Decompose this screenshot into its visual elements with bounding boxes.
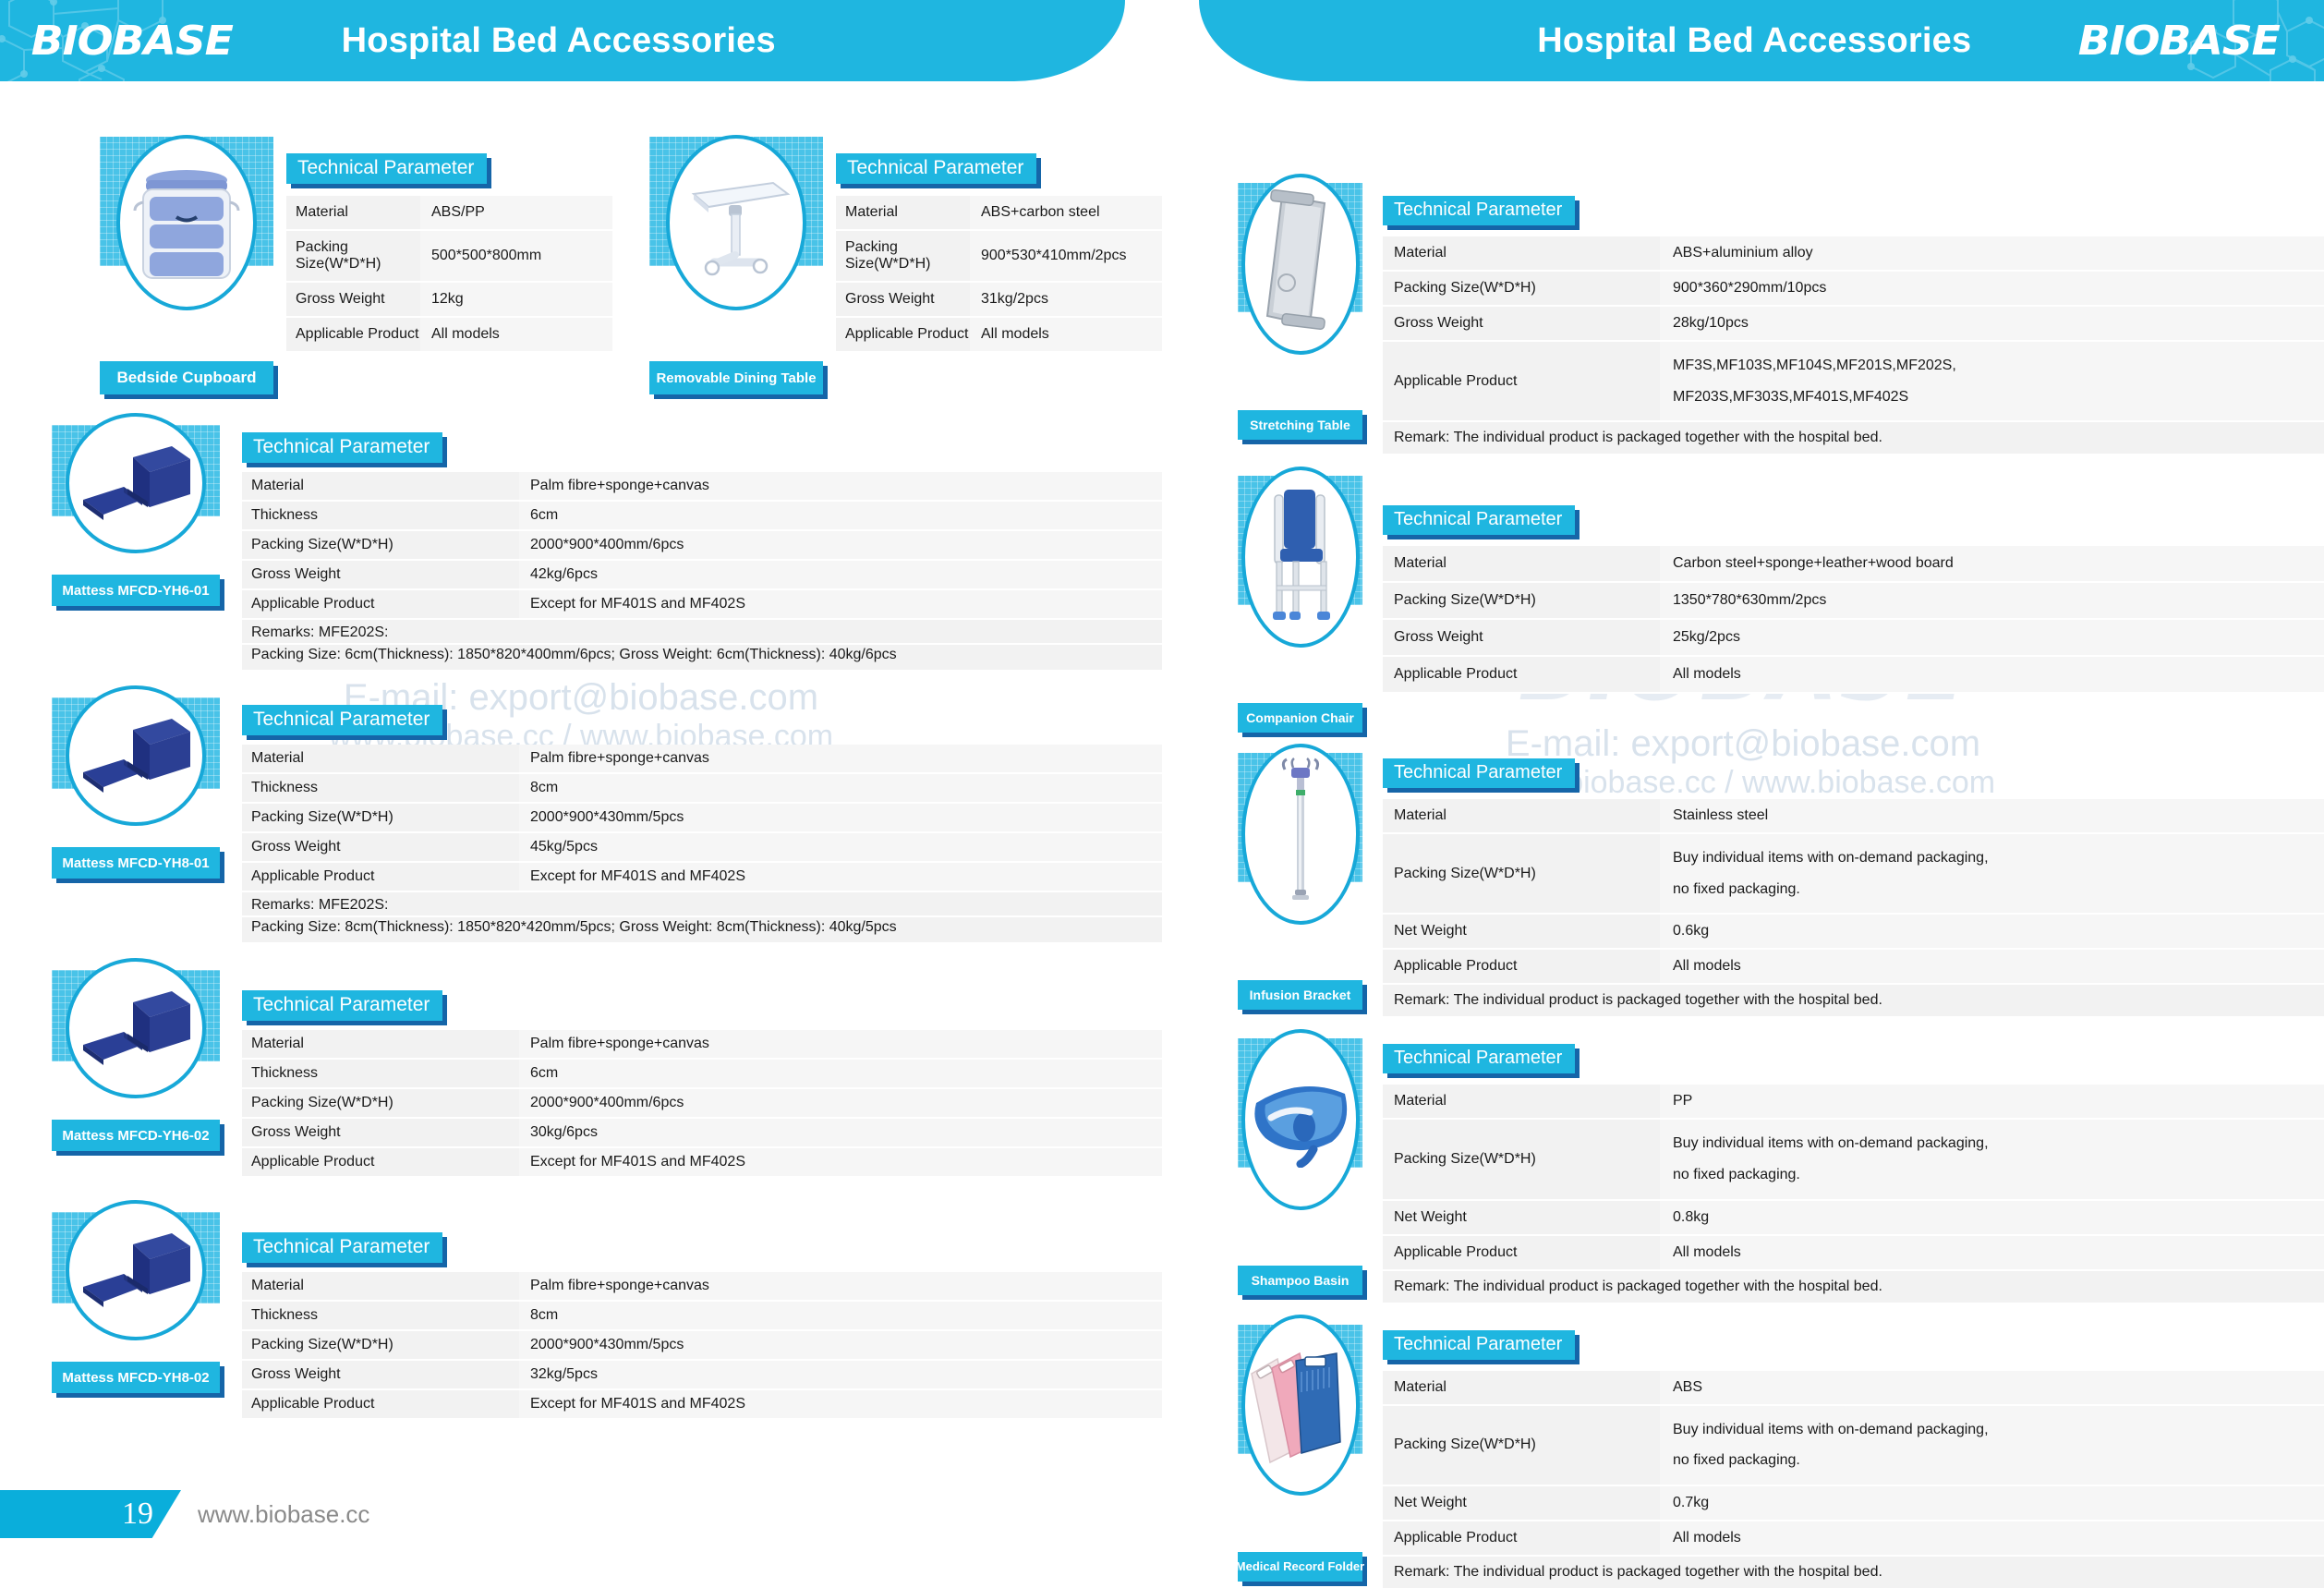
technical-parameter-badge: Technical Parameter [1383, 196, 1575, 225]
table-row: Remark: The individual product is packag… [1383, 1270, 2324, 1303]
spec-value: Stainless steel [1660, 799, 2324, 833]
table-row: Packing Size(W*D*H)Buy individual items … [1383, 1119, 2324, 1199]
thumbnail-frame [52, 970, 220, 1061]
thumbnail-column: Stretching Table [1238, 183, 1362, 455]
spec-key: Packing Size(W*D*H) [242, 1088, 519, 1118]
table-row: Packing Size(W*D*H)Buy individual items … [1383, 1405, 2324, 1485]
spec-value: 1350*780*630mm/2pcs [1660, 582, 2324, 619]
stretching-table-icon [1258, 187, 1343, 342]
spec-key: Packing Size(W*D*H) [286, 230, 420, 282]
shampoo-basin-icon [1249, 1072, 1352, 1168]
spec-table: MaterialPalm fibre+sponge+canvas Thickne… [242, 1030, 1162, 1178]
spec-key: Gross Weight [1383, 306, 1660, 341]
table-row: Remark: The individual product is packag… [1383, 984, 2324, 1017]
spec-key: Material [286, 196, 420, 230]
spec-table: MaterialStainless steel Packing Size(W*D… [1383, 799, 2324, 1018]
spec-value: 12kg [420, 282, 612, 317]
spec-value: Except for MF401S and MF402S [519, 1147, 1162, 1177]
spec-value: Except for MF401S and MF402S [519, 1389, 1162, 1419]
header-brand-logo: BIOBASE [31, 18, 233, 65]
footer-url[interactable]: www.biobase.cc [198, 1490, 369, 1538]
page-20: Hospital Bed Accessories BIOBASE BIOBASE… [1162, 0, 2324, 1588]
table-row: Applicable ProductAll models [1383, 656, 2324, 693]
table-row: Packing Size(W*D*H)1350*780*630mm/2pcs [1383, 582, 2324, 619]
spec-key: Packing Size(W*D*H) [1383, 1119, 1660, 1199]
spec-note: Remarks: MFE202S: [242, 891, 1162, 916]
table-row: Gross Weight30kg/6pcs [242, 1118, 1162, 1147]
spec-key: Applicable Product [836, 317, 970, 352]
spec-key: Packing Size(W*D*H) [836, 230, 970, 282]
spec-key: Applicable Product [1383, 1235, 1660, 1270]
spec-value: Palm fibre+sponge+canvas [519, 1272, 1162, 1301]
spec-key: Packing Size(W*D*H) [1383, 1405, 1660, 1485]
spec-key: Applicable Product [1383, 1521, 1660, 1556]
thumbnail-column: Infusion Bracket [1238, 753, 1362, 1018]
spec-note: Remark: The individual product is packag… [1383, 421, 2324, 455]
spec-value: 900*360*290mm/10pcs [1660, 271, 2324, 306]
product-photo-disc [1241, 467, 1360, 648]
spec-value: ABS+aluminium alloy [1660, 236, 2324, 271]
spec-key: Material [242, 745, 519, 773]
table-row: Packing Size(W*D*H)Buy individual items … [1383, 833, 2324, 914]
spec-value: 6cm [519, 501, 1162, 530]
technical-parameter-badge: Technical Parameter [242, 1232, 442, 1263]
spec-value: 42kg/6pcs [519, 560, 1162, 589]
spec-key: Packing Size(W*D*H) [1383, 582, 1660, 619]
spec-value: 2000*900*400mm/6pcs [519, 1088, 1162, 1118]
table-row: Applicable ProductExcept for MF401S and … [242, 589, 1162, 619]
spec-column: Technical Parameter MaterialPP Packing S… [1383, 1038, 2324, 1303]
table-row: MaterialABS/PP [286, 196, 612, 230]
table-row: Packing Size: 6cm(Thickness): 1850*820*4… [242, 644, 1162, 671]
spec-table: MaterialPalm fibre+sponge+canvas Thickne… [242, 472, 1162, 672]
table-row: Net Weight0.8kg [1383, 1200, 2324, 1235]
spec-key: Material [242, 1272, 519, 1301]
mattress-icon [76, 439, 196, 527]
spec-key: Packing Size(W*D*H) [242, 530, 519, 560]
thumbnail-frame [1238, 1038, 1362, 1168]
spec-value: Palm fibre+sponge+canvas [519, 1030, 1162, 1059]
technical-parameter-badge: Technical Parameter [286, 153, 487, 184]
spec-note: Packing Size: 8cm(Thickness): 1850*820*4… [242, 916, 1162, 943]
spec-value: All models [1660, 1521, 2324, 1556]
table-row: Packing Size(W*D*H)900*530*410mm/2pcs [836, 230, 1162, 282]
product-photo-disc [1241, 174, 1360, 355]
spec-value: Buy individual items with on-demand pack… [1660, 833, 2324, 914]
product-label-badge: Removable Dining Table [649, 361, 823, 394]
spec-value: 6cm [519, 1059, 1162, 1088]
spec-column: Technical Parameter MaterialABS Packing … [1383, 1325, 2324, 1588]
spec-value: 31kg/2pcs [970, 282, 1162, 317]
technical-parameter-badge: Technical Parameter [1383, 758, 1575, 788]
table-row: Thickness8cm [242, 773, 1162, 803]
thumbnail-column: Companion Chair [1238, 476, 1362, 733]
spec-key: Thickness [242, 1301, 519, 1330]
product-label-badge: Infusion Bracket [1238, 980, 1362, 1010]
table-row: MaterialPalm fibre+sponge+canvas [242, 1272, 1162, 1301]
spec-table: MaterialCarbon steel+sponge+leather+wood… [1383, 546, 2324, 694]
spec-value: 2000*900*430mm/5pcs [519, 1330, 1162, 1360]
spec-table: MaterialPalm fibre+sponge+canvas Thickne… [242, 745, 1162, 944]
spec-table: MaterialABS Packing Size(W*D*H)Buy indiv… [1383, 1371, 2324, 1588]
spec-column: Technical Parameter MaterialStainless st… [1383, 753, 2324, 1018]
spec-value: Except for MF401S and MF402S [519, 589, 1162, 619]
spec-key: Gross Weight [1383, 619, 1660, 656]
spec-key: Material [1383, 1085, 1660, 1119]
technical-parameter-badge: Technical Parameter [242, 990, 442, 1021]
spec-column: Technical Parameter MaterialABS+carbon s… [836, 137, 1162, 353]
spec-key: Applicable Product [242, 1389, 519, 1419]
table-row: Remarks: MFE202S: [242, 619, 1162, 644]
spec-column: Technical Parameter MaterialPalm fibre+s… [242, 697, 1162, 944]
spec-value: ABS+carbon steel [970, 196, 1162, 230]
spec-value: 8cm [519, 1301, 1162, 1330]
thumbnail-column: Mattess MFCD-YH8-01 [52, 697, 220, 944]
thumbnail-column: Mattess MFCD-YH8-02 [52, 1212, 220, 1420]
product-photo-disc [1241, 744, 1360, 925]
spec-key: Applicable Product [286, 317, 420, 352]
product-label-badge: Companion Chair [1238, 703, 1362, 733]
product-label-badge: Stretching Table [1238, 410, 1362, 440]
spec-value: 500*500*800mm [420, 230, 612, 282]
table-row: Remark: The individual product is packag… [1383, 421, 2324, 455]
page-19-footer: 19 www.biobase.cc [0, 1490, 1162, 1538]
spec-column: Technical Parameter MaterialABS/PP Packi… [286, 137, 612, 353]
technical-parameter-badge: Technical Parameter [242, 705, 442, 735]
spec-key: Net Weight [1383, 914, 1660, 949]
spec-key: Applicable Product [1383, 656, 1660, 693]
spec-key: Material [242, 1030, 519, 1059]
thumbnail-frame [649, 137, 823, 266]
table-row: Packing Size(W*D*H)500*500*800mm [286, 230, 612, 282]
table-row: Applicable ProductMF3S,MF103S,MF104S,MF2… [1383, 341, 2324, 421]
table-row: Applicable ProductAll models [1383, 1235, 2324, 1270]
spec-value: 900*530*410mm/2pcs [970, 230, 1162, 282]
companion-chair-icon [1253, 482, 1349, 632]
spec-value: Buy individual items with on-demand pack… [1660, 1119, 2324, 1199]
spec-value: MF3S,MF103S,MF104S,MF201S,MF202S, MF203S… [1660, 341, 2324, 421]
table-row: Applicable ProductExcept for MF401S and … [242, 1147, 1162, 1177]
spec-value: 0.7kg [1660, 1485, 2324, 1521]
spec-column: Technical Parameter MaterialPalm fibre+s… [242, 1212, 1162, 1420]
table-row: MaterialStainless steel [1383, 799, 2324, 833]
spec-key: Gross Weight [242, 560, 519, 589]
product-label-badge: Shampoo Basin [1238, 1266, 1362, 1295]
spec-column: Technical Parameter MaterialPalm fibre+s… [242, 970, 1162, 1178]
page-19-header: BIOBASE Hospital Bed Accessories [0, 0, 1125, 81]
page-19-body: BIOBASE E-mail: export@biobase.com www.b… [0, 137, 1162, 1420]
spec-value: All models [420, 317, 612, 352]
spec-value: 32kg/5pcs [519, 1360, 1162, 1389]
spec-note: Remarks: MFE202S: [242, 619, 1162, 644]
table-row: Thickness8cm [242, 1301, 1162, 1330]
product-card-infusion-bracket: Infusion Bracket Technical Parameter Mat… [1238, 753, 2324, 1018]
spec-key: Material [242, 472, 519, 501]
spec-table: MaterialPP Packing Size(W*D*H)Buy indivi… [1383, 1085, 2324, 1303]
spec-key: Material [1383, 799, 1660, 833]
product-card-mattess-yh6-01: Mattess MFCD-YH6-01 Technical Parameter … [52, 425, 1162, 672]
spec-value: All models [1660, 656, 2324, 693]
table-row: Gross Weight45kg/5pcs [242, 832, 1162, 862]
technical-parameter-badge: Technical Parameter [242, 432, 442, 463]
medical-record-folder-icon [1248, 1340, 1353, 1470]
table-row: MaterialCarbon steel+sponge+leather+wood… [1383, 546, 2324, 582]
product-photo-disc [66, 685, 206, 826]
product-photo-disc [666, 135, 806, 310]
product-card-mattess-yh6-02: Mattess MFCD-YH6-02 Technical Parameter … [52, 970, 1162, 1178]
table-row: Remark: The individual product is packag… [1383, 1556, 2324, 1588]
spec-key: Packing Size(W*D*H) [242, 1330, 519, 1360]
page-number: 19 [0, 1490, 181, 1538]
table-row: Gross Weight42kg/6pcs [242, 560, 1162, 589]
spec-key: Applicable Product [242, 1147, 519, 1177]
table-row: Remarks: MFE202S: [242, 891, 1162, 916]
spec-value: All models [1660, 1235, 2324, 1270]
table-row: Packing Size(W*D*H)900*360*290mm/10pcs [1383, 271, 2324, 306]
spec-value: PP [1660, 1085, 2324, 1119]
table-row: Gross Weight28kg/10pcs [1383, 306, 2324, 341]
table-row: Gross Weight32kg/5pcs [242, 1360, 1162, 1389]
spec-key: Net Weight [1383, 1200, 1660, 1235]
spec-value: 28kg/10pcs [1660, 306, 2324, 341]
thumbnail-frame [52, 697, 220, 789]
mattress-icon [76, 711, 196, 800]
page-title: Hospital Bed Accessories [342, 21, 776, 61]
spec-table: MaterialABS+aluminium alloy Packing Size… [1383, 236, 2324, 455]
spec-column: Technical Parameter MaterialABS+aluminiu… [1383, 183, 2324, 455]
thumbnail-column: Removable Dining Table [649, 137, 823, 394]
mattress-icon [76, 984, 196, 1073]
spec-value: 0.8kg [1660, 1200, 2324, 1235]
table-row: MaterialPalm fibre+sponge+canvas [242, 1030, 1162, 1059]
thumbnail-frame [1238, 753, 1362, 882]
product-card-mattess-yh8-01: Mattess MFCD-YH8-01 Technical Parameter … [52, 697, 1162, 944]
spec-value: 45kg/5pcs [519, 832, 1162, 862]
product-photo-disc [66, 1200, 206, 1340]
spec-note: Packing Size: 6cm(Thickness): 1850*820*4… [242, 644, 1162, 671]
product-card-mattess-yh8-02: Mattess MFCD-YH8-02 Technical Parameter … [52, 1212, 1162, 1420]
technical-parameter-badge: Technical Parameter [1383, 1330, 1575, 1360]
spec-value: Buy individual items with on-demand pack… [1660, 1405, 2324, 1485]
spec-value: Palm fibre+sponge+canvas [519, 745, 1162, 773]
table-row: Packing Size(W*D*H)2000*900*400mm/6pcs [242, 1088, 1162, 1118]
spec-table: MaterialABS/PP Packing Size(W*D*H)500*50… [286, 196, 612, 353]
page-19: BIOBASE Hospital Bed Accessories BIOBASE… [0, 0, 1162, 1588]
thumbnail-frame [1238, 183, 1362, 312]
spec-key: Gross Weight [836, 282, 970, 317]
header-brand-logo: BIOBASE [2078, 18, 2280, 65]
table-row: Applicable ProductAll models [1383, 1521, 2324, 1556]
table-row: Gross Weight25kg/2pcs [1383, 619, 2324, 656]
page-20-header: Hospital Bed Accessories BIOBASE [1199, 0, 2324, 81]
table-row: MaterialABS+aluminium alloy [1383, 236, 2324, 271]
product-label-badge: Mattess MFCD-YH8-01 [52, 847, 220, 879]
spec-value: 25kg/2pcs [1660, 619, 2324, 656]
spec-key: Gross Weight [242, 832, 519, 862]
table-row: Thickness6cm [242, 1059, 1162, 1088]
spec-table: MaterialPalm fibre+sponge+canvas Thickne… [242, 1272, 1162, 1420]
spec-key: Material [836, 196, 970, 230]
page-20-body: BIOBASE E-mail: export@biobase.com www.b… [1162, 183, 2324, 1588]
product-photo-disc [116, 135, 257, 310]
table-row: Net Weight0.6kg [1383, 914, 2324, 949]
spec-value: ABS [1660, 1371, 2324, 1405]
product-photo-disc [66, 413, 206, 553]
table-row: Applicable ProductAll models [836, 317, 1162, 352]
spec-table: MaterialABS+carbon steel Packing Size(W*… [836, 196, 1162, 353]
table-row: Packing Size(W*D*H)2000*900*400mm/6pcs [242, 530, 1162, 560]
spec-key: Thickness [242, 501, 519, 530]
spec-value: Palm fibre+sponge+canvas [519, 472, 1162, 501]
product-photo-disc [1241, 1029, 1360, 1210]
technical-parameter-badge: Technical Parameter [1383, 1044, 1575, 1073]
spec-key: Packing Size(W*D*H) [1383, 271, 1660, 306]
table-row: MaterialPalm fibre+sponge+canvas [242, 472, 1162, 501]
spec-key: Material [1383, 1371, 1660, 1405]
product-card-stretching-table: Stretching Table Technical Parameter Mat… [1238, 183, 2324, 455]
table-row: Applicable ProductAll models [1383, 949, 2324, 984]
thumbnail-frame [1238, 1325, 1362, 1454]
product-label-badge: Bedside Cupboard [100, 361, 273, 394]
spec-key: Material [1383, 546, 1660, 582]
spec-column: Technical Parameter MaterialCarbon steel… [1383, 476, 2324, 733]
technical-parameter-badge: Technical Parameter [1383, 505, 1575, 535]
spec-value: Carbon steel+sponge+leather+wood board [1660, 546, 2324, 582]
spec-key: Applicable Product [1383, 341, 1660, 421]
spec-note: Remark: The individual product is packag… [1383, 1270, 2324, 1303]
table-row: Thickness6cm [242, 501, 1162, 530]
technical-parameter-badge: Technical Parameter [836, 153, 1036, 184]
thumbnail-column: Bedside Cupboard [100, 137, 273, 394]
spec-value: 2000*900*430mm/5pcs [519, 803, 1162, 832]
spec-value: 0.6kg [1660, 914, 2324, 949]
spec-key: Gross Weight [242, 1360, 519, 1389]
product-card-bedside-cupboard: Bedside Cupboard Technical Parameter Mat… [100, 137, 1162, 394]
spec-key: Applicable Product [242, 862, 519, 891]
catalog-spread: BIOBASE Hospital Bed Accessories BIOBASE… [0, 0, 2324, 1588]
thumbnail-column: Medical Record Folder [1238, 1325, 1362, 1588]
product-label-badge: Medical Record Folder [1238, 1552, 1362, 1582]
spec-key: Packing Size(W*D*H) [1383, 833, 1660, 914]
table-row: MaterialPalm fibre+sponge+canvas [242, 745, 1162, 773]
table-row: Net Weight0.7kg [1383, 1485, 2324, 1521]
table-row: MaterialABS [1383, 1371, 2324, 1405]
table-row: Applicable ProductExcept for MF401S and … [242, 1389, 1162, 1419]
spec-value: All models [970, 317, 1162, 352]
spec-key: Net Weight [1383, 1485, 1660, 1521]
bedside-cupboard-icon [132, 160, 241, 285]
spec-key: Thickness [242, 773, 519, 803]
spec-key: Applicable Product [1383, 949, 1660, 984]
spec-column: Technical Parameter MaterialPalm fibre+s… [242, 425, 1162, 672]
product-label-badge: Mattess MFCD-YH6-01 [52, 575, 220, 606]
thumbnail-column: Mattess MFCD-YH6-02 [52, 970, 220, 1178]
spec-value: 30kg/6pcs [519, 1118, 1162, 1147]
table-row: Applicable ProductExcept for MF401S and … [242, 862, 1162, 891]
page-title: Hospital Bed Accessories [1537, 21, 1971, 61]
spec-note: Remark: The individual product is packag… [1383, 984, 2324, 1017]
product-card-shampoo-basin: Shampoo Basin Technical Parameter Materi… [1238, 1038, 2324, 1303]
table-row: Gross Weight31kg/2pcs [836, 282, 1162, 317]
product-photo-disc [1241, 1315, 1360, 1496]
product-card-companion-chair: Companion Chair Technical Parameter Mate… [1238, 476, 2324, 733]
thumbnail-frame [1238, 476, 1362, 605]
thumbnail-frame [52, 425, 220, 516]
spec-key: Packing Size(W*D*H) [242, 803, 519, 832]
table-row: MaterialPP [1383, 1085, 2324, 1119]
spec-value: ABS/PP [420, 196, 612, 230]
spec-key: Applicable Product [242, 589, 519, 619]
product-photo-disc [66, 958, 206, 1098]
thumbnail-column: Shampoo Basin [1238, 1038, 1362, 1303]
infusion-bracket-icon [1268, 755, 1333, 914]
thumbnail-column: Mattess MFCD-YH6-01 [52, 425, 220, 672]
dining-table-icon [677, 163, 795, 283]
spec-key: Gross Weight [242, 1118, 519, 1147]
spec-value: All models [1660, 949, 2324, 984]
table-row: Applicable ProductAll models [286, 317, 612, 352]
table-row: Packing Size(W*D*H)2000*900*430mm/5pcs [242, 803, 1162, 832]
table-row: Gross Weight12kg [286, 282, 612, 317]
spec-key: Material [1383, 236, 1660, 271]
mattress-icon [76, 1226, 196, 1315]
table-row: Packing Size: 8cm(Thickness): 1850*820*4… [242, 916, 1162, 943]
table-row: MaterialABS+carbon steel [836, 196, 1162, 230]
product-label-badge: Mattess MFCD-YH6-02 [52, 1120, 220, 1151]
thumbnail-frame [52, 1212, 220, 1303]
product-card-medical-record-folder: Medical Record Folder Technical Paramete… [1238, 1325, 2324, 1588]
spec-value: Except for MF401S and MF402S [519, 862, 1162, 891]
spec-value: 2000*900*400mm/6pcs [519, 530, 1162, 560]
spec-value: 8cm [519, 773, 1162, 803]
spec-key: Thickness [242, 1059, 519, 1088]
thumbnail-frame [100, 137, 273, 266]
product-label-badge: Mattess MFCD-YH8-02 [52, 1362, 220, 1393]
spec-key: Gross Weight [286, 282, 420, 317]
spec-note: Remark: The individual product is packag… [1383, 1556, 2324, 1588]
table-row: Packing Size(W*D*H)2000*900*430mm/5pcs [242, 1330, 1162, 1360]
